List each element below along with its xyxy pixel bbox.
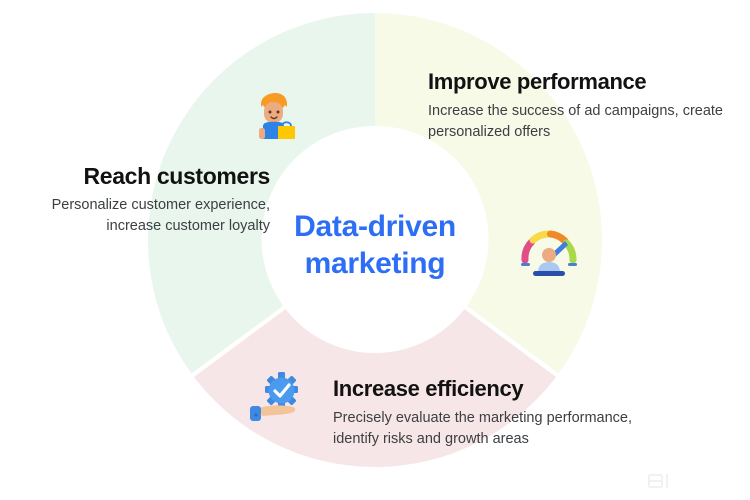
watermark-icon [648, 472, 674, 490]
gauge-icon [518, 222, 580, 278]
heading-increase-efficiency: Increase efficiency [333, 375, 643, 403]
center-title-line-2: marketing [272, 245, 478, 282]
center-title: Data-driven marketing [272, 208, 478, 282]
heading-reach-customers: Reach customers [20, 162, 270, 190]
label-increase-efficiency: Increase efficiency Precisely evaluate t… [333, 375, 643, 450]
diagram-canvas: Data-driven marketing [0, 0, 750, 500]
label-reach-customers: Reach customers Personalize customer exp… [20, 162, 270, 237]
heading-improve-performance: Improve performance [428, 68, 728, 96]
body-increase-efficiency: Precisely evaluate the marketing perform… [333, 408, 643, 450]
body-improve-performance: Increase the success of ad campaigns, cr… [428, 101, 728, 143]
body-reach-customers: Personalize customer experience, increas… [20, 195, 270, 237]
shopper-icon [249, 90, 297, 140]
label-improve-performance: Improve performance Increase the success… [428, 68, 728, 143]
gear-in-hand-icon [248, 370, 306, 424]
center-title-line-1: Data-driven [272, 208, 478, 245]
